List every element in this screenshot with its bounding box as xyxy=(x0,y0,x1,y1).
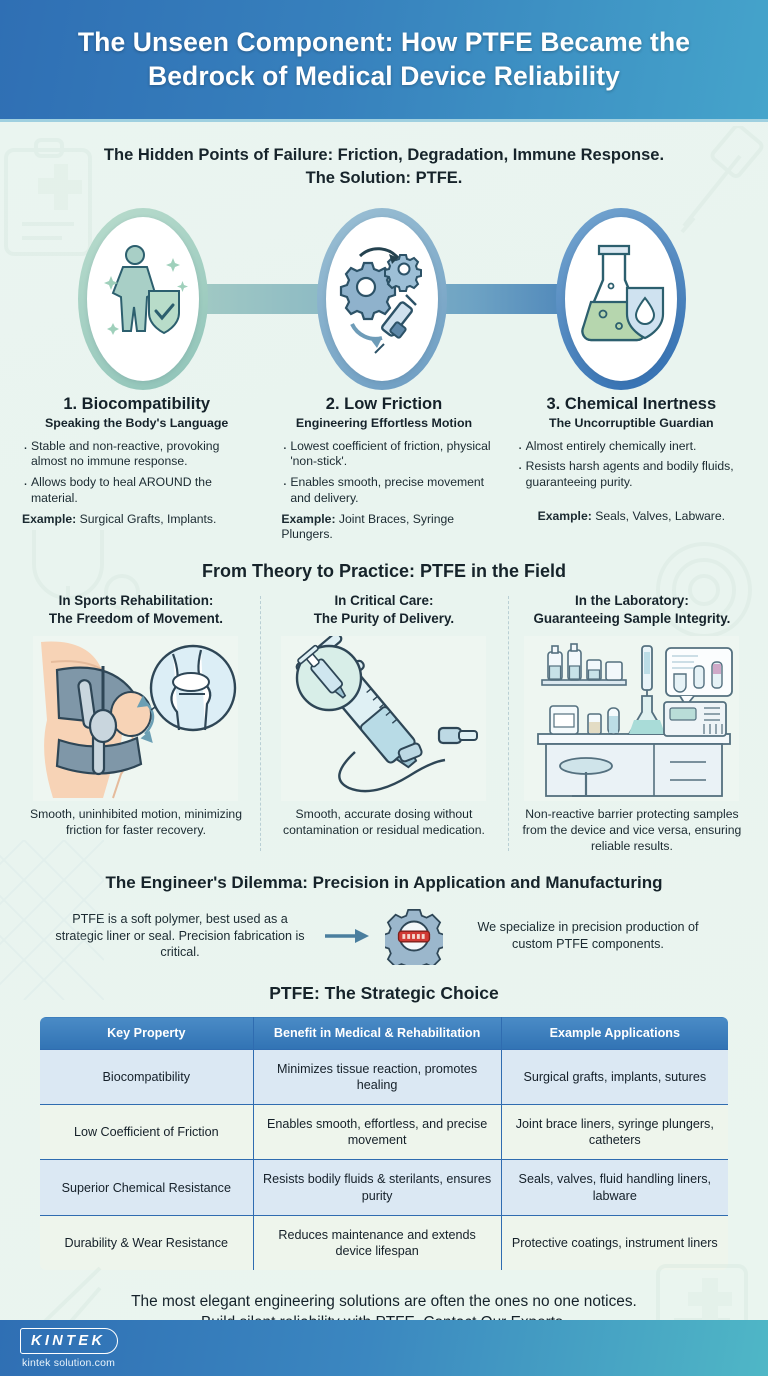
field-item-heading: In Sports Rehabilitation: The Freedom of… xyxy=(22,592,250,627)
knee-brace-illustration xyxy=(33,636,238,801)
cell-property: Superior Chemical Resistance xyxy=(40,1160,254,1215)
field-item-caption: Smooth, accurate dosing without contamin… xyxy=(270,807,498,839)
field-item-caption: Smooth, uninhibited motion, minimizing f… xyxy=(22,807,250,839)
field-illustration xyxy=(518,633,746,803)
pillar-title: 1. Biocompatibility xyxy=(22,394,251,415)
cell-property: Low Coefficient of Friction xyxy=(40,1105,254,1160)
column-header-key-property: Key Property xyxy=(40,1017,254,1050)
dilemma-row: PTFE is a soft polymer, best used as a s… xyxy=(0,907,768,965)
field-heading-line-2: Guaranteeing Sample Integrity. xyxy=(533,611,730,626)
pillar-title: 3. Chemical Inertness xyxy=(517,394,746,415)
intro-line-2: The Solution: PTFE. xyxy=(34,167,734,190)
dilemma-left-text: PTFE is a soft polymer, best used as a s… xyxy=(49,911,311,962)
cell-benefit: Enables smooth, effortless, and precise … xyxy=(253,1105,501,1160)
field-heading-line-2: The Freedom of Movement. xyxy=(49,611,223,626)
field-section: From Theory to Practice: PTFE in the Fie… xyxy=(0,561,768,855)
page-title: The Unseen Component: How PTFE Became th… xyxy=(0,26,768,94)
dilemma-title: The Engineer's Dilemma: Precision in App… xyxy=(0,873,768,893)
cell-applications: Joint brace liners, syringe plungers, ca… xyxy=(501,1105,728,1160)
laboratory-bench-illustration xyxy=(524,636,739,801)
closing-line-1: The most elegant engineering solutions a… xyxy=(39,1291,729,1313)
field-item-heading: In Critical Care: The Purity of Delivery… xyxy=(270,592,498,627)
pillar-bullet: Enables smooth, precise movement and del… xyxy=(281,475,498,506)
column-header-applications: Example Applications xyxy=(501,1017,728,1050)
cell-property: Durability & Wear Resistance xyxy=(40,1215,254,1270)
cell-benefit: Minimizes tissue reaction, promotes heal… xyxy=(253,1050,501,1105)
infographic-page: The Unseen Component: How PTFE Became th… xyxy=(0,0,768,1376)
pillar-example-label: Example: xyxy=(22,512,76,526)
field-heading-line-1: In Critical Care: xyxy=(334,593,433,608)
pillar-example: Example: Joint Braces, Syringe Plungers. xyxy=(269,512,498,543)
cell-property: Biocompatibility xyxy=(40,1050,254,1105)
pillar-bullets: Almost entirely chemically inert. Resist… xyxy=(517,439,746,491)
field-heading-line-2: The Purity of Delivery. xyxy=(314,611,454,626)
pillar-circle-chemical-inertness xyxy=(556,208,686,390)
pillar-bullet: Lowest coefficient of friction, physical… xyxy=(281,439,498,470)
footer-url[interactable]: kintek solution.com xyxy=(22,1357,118,1369)
pillar-subtitle: Engineering Effortless Motion xyxy=(269,416,498,432)
table-row: Superior Chemical Resistance Resists bod… xyxy=(40,1160,729,1215)
field-heading-line-1: In the Laboratory: xyxy=(575,593,689,608)
flask-droplet-shield-icon xyxy=(571,240,671,358)
intro-line-1: The Hidden Points of Failure: Friction, … xyxy=(34,144,734,167)
brand-block[interactable]: KINTEK kintek solution.com xyxy=(0,1328,118,1369)
field-heading-line-1: In Sports Rehabilitation: xyxy=(59,593,214,608)
field-illustration xyxy=(270,633,498,803)
pillar-example-value: Seals, Valves, Labware. xyxy=(595,509,725,523)
cell-benefit: Resists bodily fluids & sterilants, ensu… xyxy=(253,1160,501,1215)
table-row: Biocompatibility Minimizes tissue reacti… xyxy=(40,1050,729,1105)
field-item-heading: In the Laboratory: Guaranteeing Sample I… xyxy=(518,592,746,627)
field-item-caption: Non-reactive barrier protecting samples … xyxy=(518,807,746,855)
gears-syringe-icon xyxy=(332,240,432,358)
pillar-subtitle: The Uncorruptible Guardian xyxy=(517,416,746,432)
field-item-sports-rehab: In Sports Rehabilitation: The Freedom of… xyxy=(12,592,260,855)
cell-benefit: Reduces maintenance and extends device l… xyxy=(253,1215,501,1270)
field-section-title: From Theory to Practice: PTFE in the Fie… xyxy=(0,561,768,582)
pillar-example-label: Example: xyxy=(538,509,592,523)
pillar-circle-low-friction xyxy=(317,208,447,390)
kintek-logo[interactable]: KINTEK xyxy=(20,1328,118,1354)
field-illustration xyxy=(22,633,250,803)
pillar-text-biocompatibility: 1. Biocompatibility Speaking the Body's … xyxy=(16,394,257,544)
pillar-subtitle: Speaking the Body's Language xyxy=(22,416,251,432)
pillar-example-label: Example: xyxy=(281,512,335,526)
pillar-title: 2. Low Friction xyxy=(269,394,498,415)
pillar-example-value: Surgical Grafts, Implants. xyxy=(80,512,217,526)
pillar-bullet: Stable and non-reactive, provoking almos… xyxy=(22,439,251,470)
pillar-example: Example: Seals, Valves, Labware. xyxy=(517,509,746,525)
right-arrow-icon xyxy=(325,926,371,946)
field-item-laboratory: In the Laboratory: Guaranteeing Sample I… xyxy=(508,592,756,855)
footer-bar: KINTEK kintek solution.com xyxy=(0,1320,768,1376)
header-banner: The Unseen Component: How PTFE Became th… xyxy=(0,0,768,122)
cell-applications: Seals, valves, fluid handling liners, la… xyxy=(501,1160,728,1215)
pillars-graphic xyxy=(0,198,768,388)
ptfe-comparison-table: Key Property Benefit in Medical & Rehabi… xyxy=(39,1016,729,1271)
table-title: PTFE: The Strategic Choice xyxy=(0,983,768,1004)
dilemma-right-text: We specialize in precision production of… xyxy=(457,919,719,953)
pillar-text-chemical-inertness: 3. Chemical Inertness The Uncorruptible … xyxy=(511,394,752,544)
pillar-text-low-friction: 2. Low Friction Engineering Effortless M… xyxy=(263,394,504,544)
pillar-bullets: Stable and non-reactive, provoking almos… xyxy=(22,439,251,507)
syringe-infusion-illustration xyxy=(281,636,486,801)
pillar-example: Example: Surgical Grafts, Implants. xyxy=(22,512,251,528)
pillar-circle-biocompatibility xyxy=(78,208,208,390)
table-row: Low Coefficient of Friction Enables smoo… xyxy=(40,1105,729,1160)
pillar-bullet: Allows body to heal AROUND the material. xyxy=(22,475,251,506)
pillar-bullet: Resists harsh agents and bodily fluids, … xyxy=(517,459,746,490)
field-item-critical-care: In Critical Care: The Purity of Delivery… xyxy=(260,592,508,855)
pillar-bullets: Lowest coefficient of friction, physical… xyxy=(269,439,498,507)
cell-applications: Protective coatings, instrument liners xyxy=(501,1215,728,1270)
precision-gear-icon xyxy=(385,907,443,965)
table-row: Durability & Wear Resistance Reduces mai… xyxy=(40,1215,729,1270)
field-items-row: In Sports Rehabilitation: The Freedom of… xyxy=(0,592,768,855)
pillar-bullet: Almost entirely chemically inert. xyxy=(517,439,746,455)
column-header-benefit: Benefit in Medical & Rehabilitation xyxy=(253,1017,501,1050)
pillars-text-row: 1. Biocompatibility Speaking the Body's … xyxy=(0,388,768,544)
intro-headline: The Hidden Points of Failure: Friction, … xyxy=(34,144,734,190)
cell-applications: Surgical grafts, implants, sutures xyxy=(501,1050,728,1105)
logo-wordmark: KINTEK xyxy=(31,1333,105,1349)
table-header-row: Key Property Benefit in Medical & Rehabi… xyxy=(40,1017,729,1050)
body-shield-icon xyxy=(95,239,191,359)
